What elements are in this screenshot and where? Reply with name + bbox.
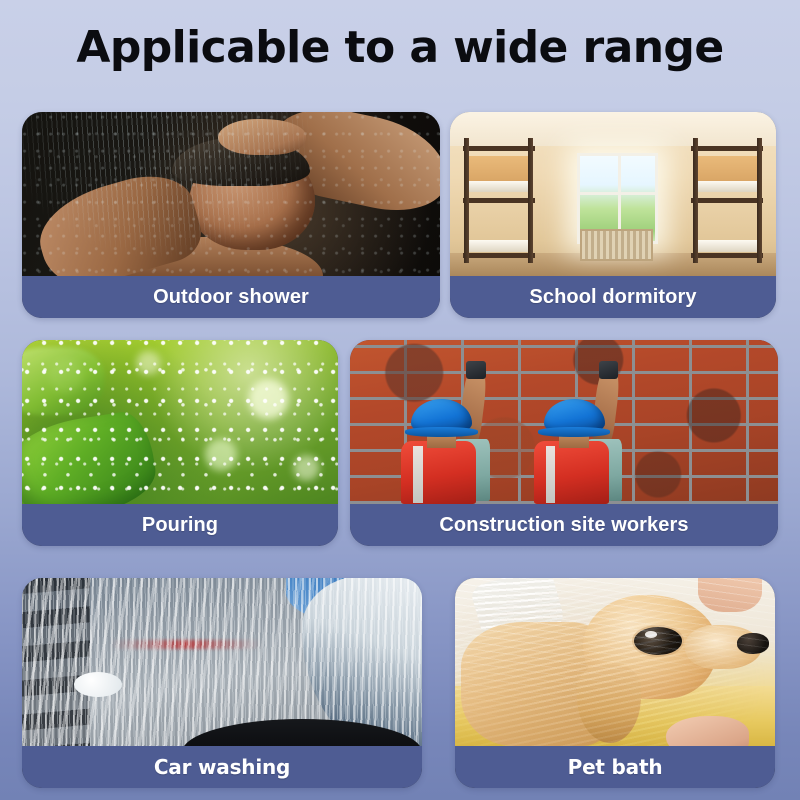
- bunk-rail-middle: [691, 198, 763, 203]
- photo-car-washing: [22, 578, 422, 746]
- bunk-post-right: [528, 138, 533, 263]
- card-outdoor-shower[interactable]: Outdoor shower: [22, 112, 440, 318]
- worker-tool: [599, 361, 619, 378]
- caption-outdoor-shower: Outdoor shower: [22, 276, 440, 318]
- caption-pouring: Pouring: [22, 504, 338, 546]
- worker-tool: [466, 361, 486, 378]
- bunk-mattress-upper: [466, 181, 532, 192]
- bunk-rail-bottom: [691, 253, 763, 258]
- card-pouring[interactable]: Pouring: [22, 340, 338, 546]
- bunk-post-left: [693, 138, 698, 263]
- worker-reflective-stripe: [546, 446, 556, 502]
- caption-construction-site-workers: Construction site workers: [350, 504, 778, 546]
- bunk-mattress-upper: [694, 181, 760, 192]
- bunk-post-right: [757, 138, 762, 263]
- bunk-mattress-lower: [466, 240, 532, 251]
- bunk-rail-middle: [463, 198, 535, 203]
- card-pet-bath[interactable]: Pet bath: [455, 578, 775, 788]
- bunk-mattress-lower: [694, 240, 760, 251]
- photo-construction-site: [350, 340, 778, 504]
- worker-reflective-stripe: [413, 446, 423, 502]
- bunk-rail-top: [463, 146, 535, 151]
- window-mullion-horizontal: [580, 192, 655, 195]
- caption-car-washing: Car washing: [22, 746, 422, 788]
- card-school-dormitory[interactable]: School dormitory: [450, 112, 776, 318]
- bunk-post-left: [464, 138, 469, 263]
- worker-right: [530, 370, 628, 504]
- caption-school-dormitory: School dormitory: [450, 276, 776, 318]
- card-car-washing[interactable]: Car washing: [22, 578, 422, 788]
- bunk-rail-top: [691, 146, 763, 151]
- photo-school-dormitory: [450, 112, 776, 276]
- worker-hard-hat-brim: [538, 427, 611, 436]
- shower-spray-droplets: [22, 112, 440, 276]
- photo-pouring: [22, 340, 338, 504]
- water-droplets: [22, 340, 338, 504]
- owner-hand: [666, 716, 749, 746]
- dormitory-radiator: [580, 229, 652, 261]
- caption-pet-bath: Pet bath: [455, 746, 775, 788]
- photo-outdoor-shower: [22, 112, 440, 276]
- dormitory-bunk-right: [688, 138, 766, 263]
- bunk-rail-bottom: [463, 253, 535, 258]
- photo-pet-bath: [455, 578, 775, 746]
- worker-left: [397, 370, 495, 504]
- card-construction-site-workers[interactable]: Construction site workers: [350, 340, 778, 546]
- worker-hard-hat-brim: [405, 427, 478, 436]
- infographic-page: Applicable to a wide range Outdoor showe…: [0, 0, 800, 800]
- water-streaks: [22, 578, 422, 746]
- page-title: Applicable to a wide range: [0, 20, 800, 76]
- dormitory-bunk-left: [460, 138, 538, 263]
